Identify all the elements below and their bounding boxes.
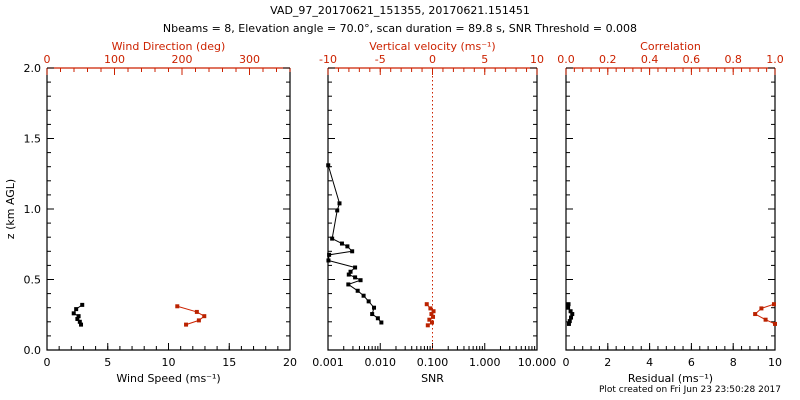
ytick-label: 0.5: [24, 274, 42, 287]
data-point: [356, 289, 360, 293]
data-point: [759, 306, 763, 310]
xtick-top-label: -10: [319, 53, 337, 66]
data-point: [326, 258, 330, 262]
data-point: [353, 266, 357, 270]
ytick-label: 2.0: [24, 62, 42, 75]
xtick-label: 2: [604, 356, 611, 369]
data-point: [566, 306, 570, 310]
xtick-top-label: 100: [104, 53, 125, 66]
data-point: [367, 299, 371, 303]
xtick-label: 20: [283, 356, 297, 369]
data-point: [430, 321, 434, 325]
xtick-label: 0.001: [312, 356, 344, 369]
data-point: [326, 163, 330, 167]
data-point: [570, 312, 574, 316]
xtick-top-label: -5: [375, 53, 386, 66]
ytick-label: 1.0: [24, 203, 42, 216]
panel-frame-1: [47, 68, 290, 350]
x-axis-label-3: Residual (ms⁻¹): [628, 372, 713, 385]
xtick-top-label: 0.8: [724, 53, 742, 66]
xtick-top-label: 0.6: [683, 53, 701, 66]
xtick-top-label: 300: [239, 53, 260, 66]
xtick-label: 4: [646, 356, 653, 369]
x-axis-top-label-2: Vertical velocity (ms⁻¹): [369, 40, 495, 53]
data-point: [184, 323, 188, 327]
ytick-label: 0.0: [24, 344, 42, 357]
data-point: [327, 253, 331, 257]
data-point: [72, 311, 76, 315]
data-point: [772, 302, 776, 306]
data-point: [79, 323, 83, 327]
xtick-top-label: 0.0: [557, 53, 575, 66]
data-point: [764, 318, 768, 322]
xtick-label: 0.100: [417, 356, 449, 369]
data-point: [567, 302, 571, 306]
xtick-label: 0: [563, 356, 570, 369]
xtick-top-label: 0.2: [599, 53, 617, 66]
xtick-label: 6: [688, 356, 695, 369]
xtick-label: 10: [768, 356, 782, 369]
data-point: [350, 249, 354, 253]
xtick-label: 5: [104, 356, 111, 369]
x-axis-top-label-1: Wind Direction (deg): [112, 40, 226, 53]
data-point: [431, 315, 435, 319]
data-point: [202, 314, 206, 318]
xtick-label: 0.010: [365, 356, 397, 369]
vad-plot-svg: VAD_97_20170621_151355, 20170621.151451N…: [0, 0, 800, 400]
data-point: [362, 294, 366, 298]
data-point: [426, 323, 430, 327]
data-point: [197, 318, 201, 322]
data-point: [376, 316, 380, 320]
data-point: [338, 201, 342, 205]
data-point: [80, 303, 84, 307]
xtick-top-label: 200: [172, 53, 193, 66]
panel-frame-3: [566, 68, 775, 350]
data-point: [74, 307, 78, 311]
y-axis-label: z (km AGL): [4, 179, 17, 239]
data-point: [195, 310, 199, 314]
data-point: [346, 282, 350, 286]
data-point: [569, 316, 573, 320]
data-point: [175, 304, 179, 308]
data-point: [340, 242, 344, 246]
xtick-top-label: 0: [429, 53, 436, 66]
figure-canvas: VAD_97_20170621_151355, 20170621.151451N…: [0, 0, 800, 400]
data-point: [773, 322, 777, 326]
xtick-top-label: 0: [44, 53, 51, 66]
xtick-label: 0: [44, 356, 51, 369]
xtick-label: 1.000: [469, 356, 501, 369]
figure-title: VAD_97_20170621_151355, 20170621.151451: [270, 4, 530, 17]
data-point: [335, 208, 339, 212]
data-point: [753, 312, 757, 316]
figure-subtitle: Nbeams = 8, Elevation angle = 70.0°, sca…: [163, 22, 637, 35]
figure-footer: Plot created on Fri Jun 23 23:50:28 2017: [599, 385, 781, 395]
data-point: [370, 312, 374, 316]
x-axis-label-1: Wind Speed (ms⁻¹): [116, 372, 220, 385]
xtick-label: 10: [162, 356, 176, 369]
xtick-top-label: 10: [530, 53, 544, 66]
data-point: [353, 275, 357, 279]
x-axis-top-label-3: Correlation: [640, 40, 701, 53]
data-point: [330, 237, 334, 241]
x-axis-label-2: SNR: [421, 372, 444, 385]
xtick-top-label: 1.0: [766, 53, 784, 66]
xtick-label: 10.000: [518, 356, 557, 369]
data-point: [372, 306, 376, 310]
data-point: [345, 244, 349, 248]
series-line-snr: [328, 165, 381, 322]
data-point: [379, 321, 383, 325]
xtick-top-label: 0.4: [641, 53, 659, 66]
data-point: [425, 302, 429, 306]
data-point: [567, 322, 571, 326]
xtick-top-label: 5: [481, 53, 488, 66]
data-point: [347, 273, 351, 277]
ytick-label: 1.5: [24, 133, 42, 146]
xtick-label: 15: [222, 356, 236, 369]
xtick-label: 8: [730, 356, 737, 369]
data-point: [359, 278, 363, 282]
